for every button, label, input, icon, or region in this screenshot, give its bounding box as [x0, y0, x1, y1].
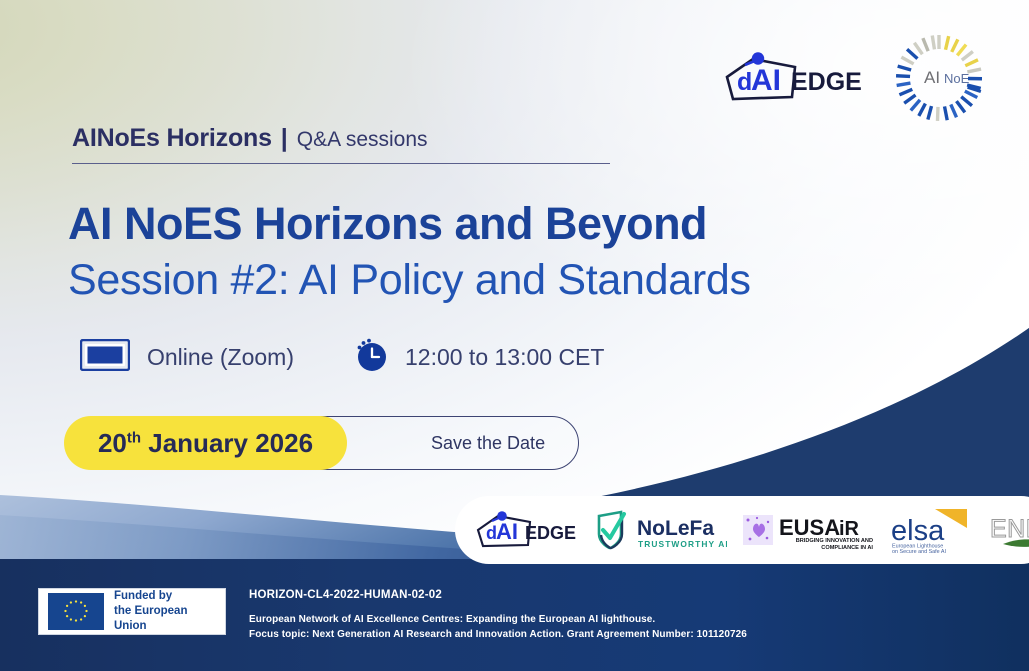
ai-noe-logo: AI NoE [891, 30, 987, 131]
partner-logo-elsa: elsa European Lighthouse on Secure and S… [889, 504, 975, 556]
partner-logo-nolefa: NoLeFa TRUSTWORTHY AI [593, 504, 727, 556]
eyebrow-divider: | [281, 124, 288, 153]
svg-text:AI: AI [496, 519, 518, 544]
svg-text:NoLeFa: NoLeFa [637, 517, 714, 540]
eu-funding-line2: the European Union [114, 604, 216, 633]
event-location: Online (Zoom) [80, 339, 294, 376]
partner-logo-eusair: EUSA iR BRIDGING INNOVATION AND COMPLIAN… [741, 504, 873, 556]
footer-call-id: HORIZON-CL4-2022-HUMAN-02-02 [249, 589, 747, 601]
series-subtitle: Q&A sessions [297, 128, 428, 152]
eyebrow-block: AINoEs Horizons | Q&A sessions [72, 124, 612, 164]
time-label: 12:00 to 13:00 CET [405, 344, 604, 371]
save-the-date-label: Save the Date [431, 433, 545, 454]
svg-text:EUSA: EUSA [779, 515, 840, 540]
eu-funding-line1: Funded by [114, 589, 216, 604]
eyebrow-rule [72, 163, 610, 164]
svg-text:d: d [737, 68, 752, 96]
svg-text:NoE: NoE [944, 71, 970, 86]
svg-text:BRIDGING INNOVATION AND: BRIDGING INNOVATION AND [796, 538, 873, 544]
event-banner: d AI EDGE [0, 0, 1029, 671]
partner-logo-strip: d AI EDGE NoLeFa TRUSTWORTHY AI [455, 496, 1029, 564]
event-title-block: AI NoES Horizons and Beyond Session #2: … [68, 200, 751, 305]
event-date-label: 20th January 2026 [98, 428, 313, 459]
eu-funding-text: Funded by the European Union [114, 589, 216, 633]
svg-text:elsa: elsa [891, 515, 945, 547]
partner-logo-enfield: ENF ELD [989, 504, 1029, 556]
event-title-line1: AI NoES Horizons and Beyond [68, 200, 751, 249]
svg-text:ENF: ENF [990, 515, 1029, 543]
svg-text:TRUSTWORTHY AI: TRUSTWORTHY AI [638, 539, 727, 549]
eu-funding-badge: Funded by the European Union [38, 588, 226, 635]
svg-text:EDGE: EDGE [791, 68, 862, 96]
footer-description-line1: European Network of AI Excellence Centre… [249, 613, 747, 628]
daiedge-logo: d AI EDGE [723, 49, 863, 112]
series-title: AINoEs Horizons [72, 124, 272, 153]
header-logos: d AI EDGE [723, 30, 987, 131]
event-title-line2: Session #2: AI Policy and Standards [68, 255, 751, 306]
svg-text:iR: iR [839, 518, 860, 540]
footer-project-info: HORIZON-CL4-2022-HUMAN-02-02 European Ne… [249, 589, 747, 643]
svg-text:COMPLIANCE IN AI: COMPLIANCE IN AI [821, 545, 873, 551]
svg-text:on Secure and Safe AI: on Secure and Safe AI [892, 549, 946, 554]
clock-icon [354, 338, 388, 377]
location-label: Online (Zoom) [147, 344, 294, 371]
footer-description-line2: Focus topic: Next Generation AI Research… [249, 628, 747, 643]
eu-flag-icon [48, 593, 104, 630]
event-date-pill: 20th January 2026 [64, 416, 347, 470]
partner-logo-daiedge: d AI EDGE [475, 504, 579, 556]
svg-text:EDGE: EDGE [525, 523, 576, 543]
monitor-icon [80, 339, 130, 376]
event-time: 12:00 to 13:00 CET [354, 338, 604, 377]
svg-text:AI: AI [751, 64, 781, 97]
svg-text:AI: AI [924, 68, 940, 87]
event-meta-row: Online (Zoom) 12:00 to 13:00 CET [80, 338, 604, 377]
